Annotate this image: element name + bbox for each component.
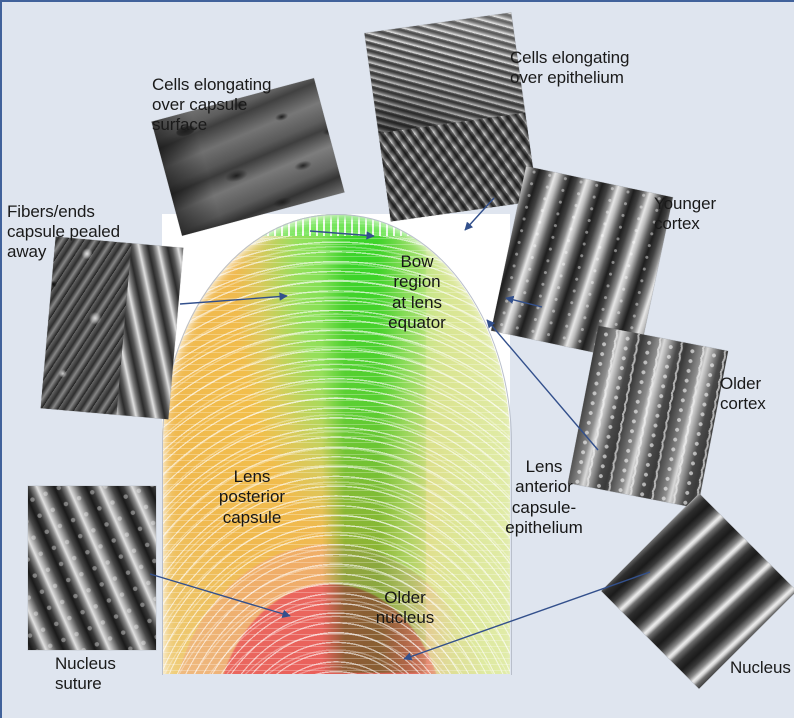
caption-older-cortex: Older cortex — [720, 374, 794, 414]
lens-structure-figure: Cells elongating over capsule surface Ce… — [0, 0, 794, 718]
sem-texture-nucleus-suture — [28, 486, 156, 650]
caption-fibers-ends: Fibers/ends capsule pealed away — [7, 202, 167, 262]
micrograph-cells-over-epithelium — [364, 13, 537, 222]
micrograph-nucleus-suture — [28, 486, 156, 650]
caption-nucleus-suture: Nucleus suture — [55, 654, 175, 694]
label-lens-posterior-capsule: Lens posterior capsule — [202, 467, 302, 528]
caption-cells-over-capsule: Cells elongating over capsule surface — [152, 75, 332, 135]
label-older-nucleus: Older nucleus — [360, 588, 450, 629]
sem-texture-peeled-capsule — [41, 237, 184, 420]
caption-cells-over-epithelium: Cells elongating over epithelium — [510, 48, 690, 88]
sem-texture-epithelium — [364, 13, 537, 222]
label-lens-anterior-capsule-epithelium: Lens anterior capsule- epithelium — [492, 457, 596, 539]
caption-nucleus: Nucleus — [730, 658, 794, 678]
micrograph-fibers-ends — [41, 237, 184, 420]
caption-younger-cortex: Younger cortex — [654, 194, 764, 234]
label-bow-region: Bow region at lens equator — [372, 252, 462, 334]
